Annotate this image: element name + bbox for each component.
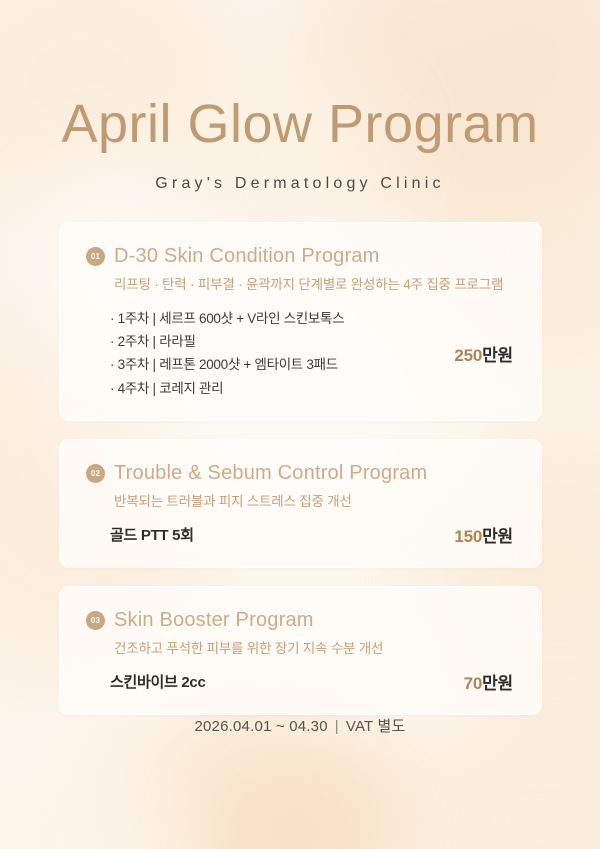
- program-number-badge: 01: [86, 247, 105, 266]
- price-amount: 70: [464, 674, 483, 693]
- program-detail-item: · 1주차 | 세르프 600샷 + V라인 스킨보톡스: [110, 307, 344, 330]
- program-subtitle: 반복되는 트러블과 피지 스트레스 집중 개선: [114, 490, 515, 510]
- program-card-body: 스킨바이브 2cc 70만원: [86, 669, 515, 694]
- program-card-header: 01 D-30 Skin Condition Program: [86, 245, 515, 268]
- program-subtitle: 건조하고 푸석한 피부를 위한 장기 지속 수분 개선: [114, 637, 515, 657]
- program-subtitle: 리프팅 · 탄력 · 피부결 · 윤곽까지 단계별로 완성하는 4주 집중 프로…: [114, 273, 515, 293]
- program-card[interactable]: 01 D-30 Skin Condition Program 리프팅 · 탄력 …: [59, 222, 542, 421]
- program-title: D-30 Skin Condition Program: [114, 245, 380, 268]
- poster-footer: 2026.04.01 ~ 04.30|VAT 별도: [0, 715, 600, 736]
- page-title: April Glow Program: [0, 96, 600, 153]
- program-item: 스킨바이브 2cc: [86, 671, 206, 692]
- program-detail-item: · 2주차 | 라라필: [110, 330, 344, 353]
- program-list: 01 D-30 Skin Condition Program 리프팅 · 탄력 …: [59, 222, 542, 715]
- program-card-body: 골드 PTT 5회 150만원: [86, 522, 515, 547]
- program-title: Skin Booster Program: [114, 609, 314, 632]
- program-card[interactable]: 03 Skin Booster Program 건조하고 푸석한 피부를 위한 …: [59, 586, 542, 715]
- promotion-period: 2026.04.01 ~ 04.30: [194, 718, 327, 735]
- program-price: 250만원: [454, 341, 515, 366]
- price-amount: 150: [454, 527, 482, 546]
- program-detail-item: · 3주차 | 레프톤 2000샷 + 엠타이트 3패드: [110, 353, 344, 376]
- price-unit: 만원: [482, 674, 513, 693]
- program-detail-item: · 4주차 | 코레지 관리: [110, 377, 344, 400]
- program-number-badge: 03: [86, 611, 105, 630]
- program-number-badge: 02: [86, 464, 105, 483]
- bokeh-blob: [400, 720, 600, 849]
- bokeh-blob: [0, 760, 200, 849]
- program-card-body: · 1주차 | 세르프 600샷 + V라인 스킨보톡스 · 2주차 | 라라필…: [86, 307, 515, 400]
- program-item: 골드 PTT 5회: [86, 524, 194, 545]
- price-amount: 250: [454, 346, 482, 365]
- program-card[interactable]: 02 Trouble & Sebum Control Program 반복되는 …: [59, 439, 542, 568]
- price-unit: 만원: [482, 346, 513, 365]
- poster-canvas: April Glow Program Gray's Dermatology Cl…: [0, 0, 600, 849]
- program-price: 150만원: [454, 522, 515, 547]
- program-card-header: 03 Skin Booster Program: [86, 609, 515, 632]
- poster-header: April Glow Program Gray's Dermatology Cl…: [0, 96, 600, 193]
- program-card-header: 02 Trouble & Sebum Control Program: [86, 462, 515, 485]
- footer-separator: |: [328, 718, 346, 735]
- program-detail-list: · 1주차 | 세르프 600샷 + V라인 스킨보톡스 · 2주차 | 라라필…: [86, 307, 344, 400]
- program-title: Trouble & Sebum Control Program: [114, 462, 427, 485]
- program-price: 70만원: [464, 669, 515, 694]
- price-unit: 만원: [482, 527, 513, 546]
- clinic-name: Gray's Dermatology Clinic: [0, 175, 600, 193]
- bokeh-blob: [210, 770, 380, 849]
- vat-note: VAT 별도: [346, 718, 406, 735]
